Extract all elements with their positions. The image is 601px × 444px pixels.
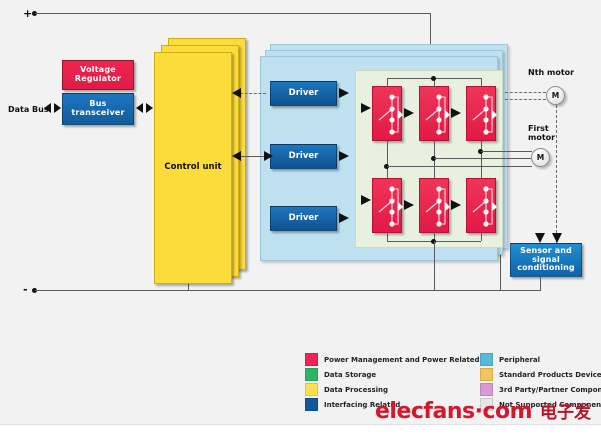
legend-item: Standard Products Devices <box>480 367 601 382</box>
control-to-driver1-arrow <box>232 88 241 98</box>
transceiver-to-control-arrow <box>136 103 153 113</box>
sensor-signal-conditioning-block[interactable]: Sensor and signal conditioning <box>510 243 582 277</box>
legend-item: Peripheral <box>480 352 601 367</box>
first-motor-symbol[interactable]: M <box>531 148 550 167</box>
bridge-bottom-leg-right <box>481 232 482 241</box>
phase-out-wire-left <box>387 166 532 167</box>
legend-swatch-data-processing <box>305 383 318 396</box>
mosfet-symbol-icon <box>420 179 450 234</box>
data-bus-arrow <box>44 103 61 113</box>
footer-strip <box>0 425 601 444</box>
mosfet-cell-bottom-3[interactable] <box>466 178 496 233</box>
driver2-output-arrow <box>339 151 349 161</box>
driver1-output-arrow <box>339 88 349 98</box>
legend-label: 3rd Party/Partner Components <box>499 386 601 394</box>
mosfet-symbol-icon <box>373 87 403 142</box>
motor-series-dashed-wire <box>556 105 557 243</box>
legend-item: Power Management and Power Related <box>305 352 485 367</box>
voltage-regulator-label: Voltage Regulator <box>63 66 133 84</box>
mosfet-bottom-link-arrow-1 <box>404 200 414 210</box>
control-unit-block[interactable]: Control unit <box>154 52 232 284</box>
bus-transceiver-block[interactable]: Bus transceiver <box>62 93 134 125</box>
gate-drive-arrow-bottom <box>361 195 371 205</box>
bridge-bottom-to-negative-wire <box>434 241 435 290</box>
positive-terminal-label: + <box>23 8 32 19</box>
legend-label: Peripheral <box>499 356 540 364</box>
negative-rail-riser-wire <box>500 252 501 291</box>
mosfet-cell-bottom-1[interactable] <box>372 178 402 233</box>
nth-motor-feed-dashed-2 <box>505 99 546 100</box>
diagram-screenshot: + - Voltage Regulator Bus transceiver Da… <box>0 0 601 444</box>
sensor-to-return-wire <box>540 277 541 291</box>
bridge-top-leg-right <box>481 78 482 87</box>
phase-tap-right-wire <box>481 141 482 178</box>
positive-rail-wire <box>35 13 431 14</box>
driver-1-label: Driver <box>289 89 319 99</box>
bridge-top-leg-left <box>387 78 388 87</box>
negative-terminal-label: - <box>23 284 28 295</box>
nth-motor-symbol[interactable]: M <box>546 86 565 105</box>
data-bus-label: Data Bus <box>8 105 49 114</box>
legend-swatch-power-management <box>305 353 318 366</box>
negative-rail-wire <box>35 290 501 291</box>
control-driver2-arrow-left <box>232 151 241 161</box>
legend-label: Data Processing <box>324 386 388 394</box>
watermark-site: elecfans·com <box>375 399 532 424</box>
legend-item: 3rd Party/Partner Components <box>480 382 601 397</box>
first-motor-label: First motor <box>528 124 555 142</box>
mosfet-bottom-link-arrow-2 <box>451 200 461 210</box>
bridge-top-bus-node <box>431 76 436 81</box>
mosfet-symbol-icon <box>373 179 403 234</box>
sensor-return-wire <box>501 290 541 291</box>
legend-swatch-third-party <box>480 383 493 396</box>
nth-motor-letter: M <box>552 91 559 100</box>
control-unit-label: Control unit <box>164 163 221 173</box>
mosfet-cell-bottom-2[interactable] <box>419 178 449 233</box>
driver-block-1[interactable]: Driver <box>270 81 337 106</box>
mosfet-symbol-icon <box>420 87 450 142</box>
driver-2-label: Driver <box>289 152 319 162</box>
driver3-output-arrow <box>339 213 349 223</box>
mosfet-symbol-icon <box>467 87 497 142</box>
mosfet-cell-top-1[interactable] <box>372 86 402 141</box>
legend-item: Data Storage <box>305 367 485 382</box>
sensor-input-arrow-dashed <box>552 233 562 243</box>
legend-swatch-interfacing <box>305 398 318 411</box>
legend-label: Power Management and Power Related <box>324 356 480 364</box>
phase-out-wire-right <box>481 151 532 152</box>
nth-motor-feed-dashed-1 <box>505 92 546 93</box>
voltage-regulator-block[interactable]: Voltage Regulator <box>62 60 134 90</box>
bridge-bottom-leg-left <box>387 232 388 241</box>
bus-transceiver-label: Bus transceiver <box>63 100 133 118</box>
mosfet-cell-top-3[interactable] <box>466 86 496 141</box>
driver-3-label: Driver <box>289 214 319 224</box>
legend-label: Data Storage <box>324 371 376 379</box>
phase-tap-left-wire <box>387 141 388 178</box>
nth-motor-label: Nth motor <box>528 68 574 77</box>
sensor-input-arrow-solid <box>535 233 545 243</box>
driver-block-3[interactable]: Driver <box>270 206 337 231</box>
sensor-label: Sensor and signal conditioning <box>511 247 581 274</box>
control-driver2-arrow-right <box>264 151 273 161</box>
legend-item: Data Processing <box>305 382 485 397</box>
gate-drive-arrow-top <box>361 103 371 113</box>
mosfet-top-link-arrow-1 <box>404 108 414 118</box>
mosfet-symbol-icon <box>467 179 497 234</box>
mosfet-top-link-arrow-2 <box>451 108 461 118</box>
legend-swatch-peripheral <box>480 353 493 366</box>
first-motor-letter: M <box>537 153 544 162</box>
legend-swatch-standard-products <box>480 368 493 381</box>
legend-label: Standard Products Devices <box>499 371 601 379</box>
control-to-driver2-wire <box>240 156 266 157</box>
legend-swatch-data-storage <box>305 368 318 381</box>
driver-block-2[interactable]: Driver <box>270 144 337 169</box>
mosfet-cell-top-2[interactable] <box>419 86 449 141</box>
control-to-driver1-dashed-wire <box>240 93 266 94</box>
phase-out-wire-mid <box>434 158 532 159</box>
